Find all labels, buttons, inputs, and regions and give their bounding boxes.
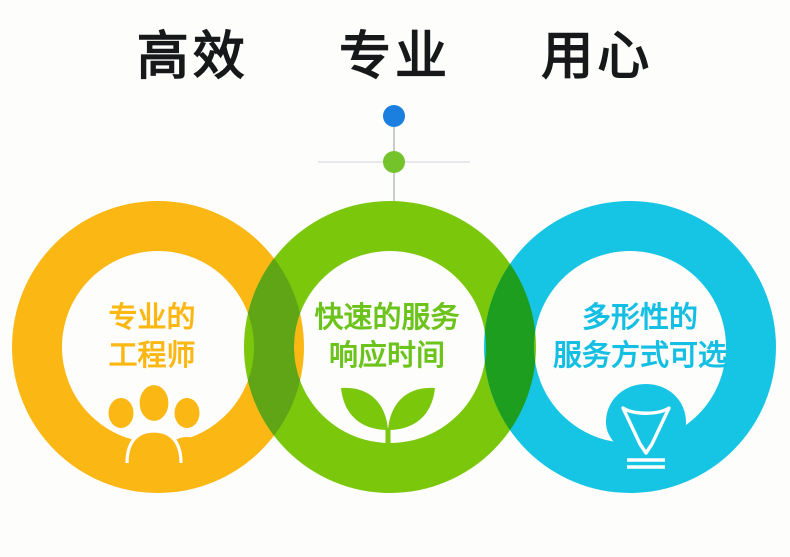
ring-label-engineers: 专业的 工程师	[45, 298, 259, 375]
venn-rings	[0, 0, 790, 557]
overlap-response-flexible	[0, 0, 790, 557]
ring-label-engineers-line-1: 专业的	[45, 298, 259, 336]
lightbulb-icon	[592, 382, 700, 470]
ring-label-response-line-2: 响应时间	[280, 336, 494, 374]
ring-label-response: 快速的服务 响应时间	[280, 298, 494, 375]
people-group-icon	[98, 383, 210, 463]
ring-label-flexible: 多形性的 服务方式可选	[525, 298, 755, 375]
ring-label-response-line-1: 快速的服务	[280, 298, 494, 336]
ring-label-flexible-line-1: 多形性的	[525, 298, 755, 336]
ring-label-engineers-line-2: 工程师	[45, 336, 259, 374]
poster-canvas: 高效 专业 用心	[0, 0, 790, 557]
sprout-icon	[332, 382, 444, 470]
ring-label-flexible-line-2: 服务方式可选	[525, 336, 755, 374]
